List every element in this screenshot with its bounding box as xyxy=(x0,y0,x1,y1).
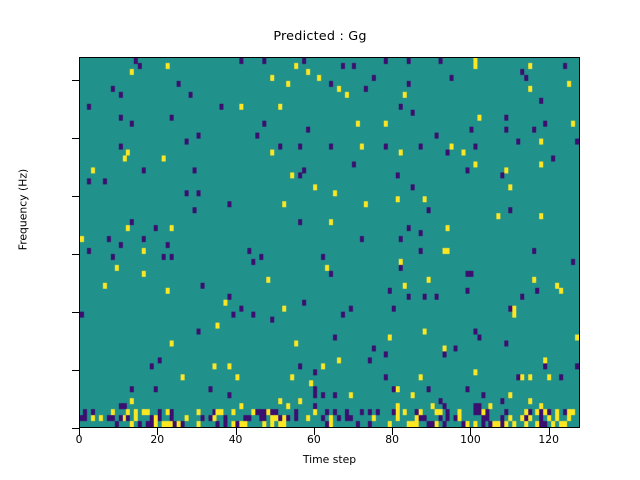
y-tick-mark xyxy=(72,196,79,197)
x-axis-label: Time step xyxy=(79,453,580,466)
x-tick-mark xyxy=(236,428,237,435)
matplotlib-figure: Predicted : Gg Frequency (Hz) Time step … xyxy=(0,0,640,480)
x-tick-mark xyxy=(314,428,315,435)
x-tick-label: 0 xyxy=(49,434,109,446)
y-tick-mark xyxy=(72,254,79,255)
x-tick-label: 40 xyxy=(206,434,266,446)
x-tick-label: 80 xyxy=(362,434,422,446)
y-tick-mark xyxy=(72,80,79,81)
x-tick-mark xyxy=(470,428,471,435)
y-axis-label: Frequency (Hz) xyxy=(17,24,30,396)
x-tick-mark xyxy=(157,428,158,435)
spectrogram-heatmap xyxy=(80,58,579,427)
y-tick-mark xyxy=(72,370,79,371)
x-tick-label: 120 xyxy=(519,434,579,446)
x-tick-mark xyxy=(79,428,80,435)
y-tick-mark xyxy=(72,138,79,139)
x-tick-mark xyxy=(549,428,550,435)
page-title: Predicted : Gg xyxy=(0,29,640,44)
x-tick-label: 60 xyxy=(284,434,344,446)
y-tick-mark xyxy=(72,312,79,313)
y-tick-mark xyxy=(72,428,79,429)
x-tick-label: 20 xyxy=(127,434,187,446)
heatmap-axes xyxy=(79,57,580,428)
x-tick-label: 100 xyxy=(440,434,500,446)
x-tick-mark xyxy=(392,428,393,435)
